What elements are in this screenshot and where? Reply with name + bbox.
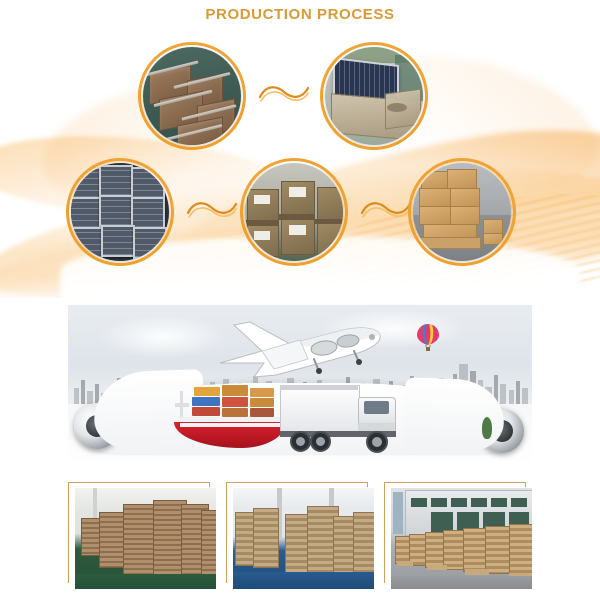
- circular-photo-panel-grid: [71, 163, 169, 261]
- process-step-3[interactable]: [66, 158, 174, 266]
- airplane-icon: [204, 311, 394, 381]
- circular-photo-wooden-crates: [143, 47, 241, 145]
- production-process-page: PRODUCTION PROCESS: [0, 0, 600, 600]
- truck-icon: [280, 383, 410, 453]
- page-title: PRODUCTION PROCESS: [205, 6, 394, 23]
- process-step-2[interactable]: [320, 42, 428, 150]
- gallery-photo-3[interactable]: [384, 482, 532, 590]
- photo-warehouse-blue-floor: [233, 488, 374, 589]
- warehouse-photo-gallery: [68, 482, 532, 590]
- page-title-bar: PRODUCTION PROCESS: [0, 0, 600, 28]
- shipping-logistics-banner: [68, 305, 532, 465]
- photo-warehouse-green-floor: [75, 488, 216, 589]
- circular-photo-warehouse-cartons: [245, 163, 343, 261]
- production-process-diagram: [0, 26, 600, 298]
- cargo-ship-icon: [172, 385, 292, 451]
- photo-outdoor-loading-dock: [391, 488, 532, 589]
- process-step-4[interactable]: [240, 158, 348, 266]
- wave-arrow-icon: [360, 196, 412, 222]
- process-step-1[interactable]: [138, 42, 246, 150]
- circular-photo-pallet-cartons: [413, 163, 511, 261]
- gallery-photo-1[interactable]: [68, 482, 216, 590]
- process-step-5[interactable]: [408, 158, 516, 266]
- tree-icon: [482, 417, 492, 439]
- gallery-photo-2[interactable]: [226, 482, 374, 590]
- wave-arrow-icon: [258, 80, 310, 106]
- wave-arrow-icon: [186, 196, 238, 222]
- hot-air-balloon-icon: [416, 323, 440, 353]
- circular-photo-panel-crating: [325, 47, 423, 145]
